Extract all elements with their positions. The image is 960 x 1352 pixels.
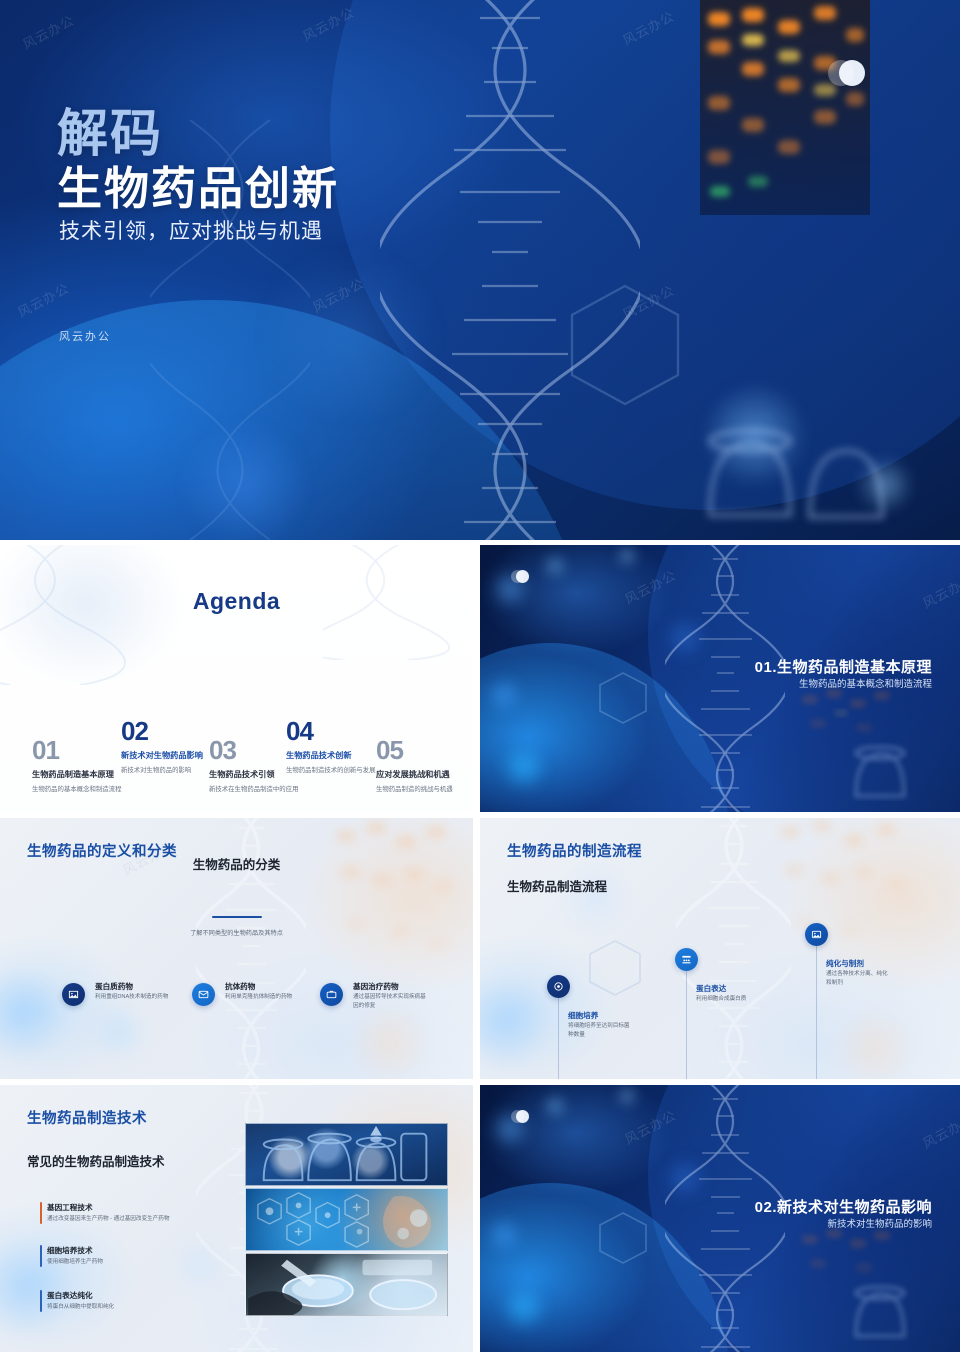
slide-section-01[interactable]: 风云办公 风云办公 01.生物药品制造基本原理 生物药品的基本概念和制造流程: [480, 545, 960, 812]
classification-item-head: 蛋白质药物: [95, 981, 133, 992]
slide-process[interactable]: 生物药品的制造流程 生物药品制造流程 细胞培养 将细胞培养至达到目标菌种数量 蛋…: [480, 818, 960, 1085]
slide-section-02[interactable]: 风云办公 风云办公 02.新技术对生物药品影响 新技术对生物药品的影响: [480, 1085, 960, 1352]
hexagon-decor: [595, 1210, 651, 1266]
process-stem: [558, 998, 559, 1085]
technology-accent-bar: [40, 1290, 42, 1312]
technology-accent-bar: [40, 1245, 42, 1267]
process-stem: [816, 946, 817, 1085]
lab-photo-beakers: [245, 1123, 448, 1186]
slide-technology[interactable]: 生物药品制造技术 常见的生物药品制造技术 基因工程技术 通过改变基因来生产药物 …: [0, 1085, 473, 1352]
glassware-decor: [842, 1270, 942, 1348]
agenda-item-number: 04: [286, 718, 375, 744]
grid-gutter-horizontal: [0, 540, 960, 545]
agenda-item-01[interactable]: 01 生物药品制造基本原理 生物药品的基本概念和制造流程: [32, 737, 121, 793]
agenda-item-desc: 新技术对生物药品的影响: [121, 765, 203, 774]
briefcase-icon: [320, 983, 343, 1006]
technology-title: 生物药品制造技术: [27, 1107, 147, 1128]
agenda-item-desc: 新技术在生物药品制造中的应用: [209, 784, 298, 793]
target-icon: [547, 975, 570, 998]
hexagon-decor: [560, 280, 690, 410]
lab-photo-medtech: [245, 1188, 448, 1251]
process-stem: [686, 970, 687, 1085]
agenda-item-number: 05: [376, 737, 453, 763]
gel-blot-decor: [328, 818, 473, 1008]
grid-gutter-horizontal: [0, 812, 960, 818]
process-step-head: 纯化与制剂: [826, 958, 864, 969]
slide-agenda[interactable]: Agenda 01 生物药品制造基本原理 生物药品的基本概念和制造流程 02 新…: [0, 545, 473, 812]
process-step-head: 细胞培养: [568, 1010, 598, 1021]
slide-deck-preview: 风云办公 风云办公 风云办公 风云办公 风云办公 风云办公 解码 生物药品创新 …: [0, 0, 960, 1352]
agenda-title: Agenda: [0, 588, 473, 615]
image-icon: [62, 983, 85, 1006]
agenda-item-head: 应对发展挑战和机遇: [376, 768, 453, 780]
glassware-decor: [842, 730, 942, 808]
hero-subtitle: 技术引领，应对挑战与机遇: [59, 215, 323, 245]
moon-icon: [839, 60, 865, 86]
process-step-head: 蛋白表达: [696, 983, 726, 994]
classification-caption: 了解不同类型的生物药品及其特点: [0, 928, 473, 937]
image-icon: [805, 923, 828, 946]
slide-classification[interactable]: 风云办公 生物药品的定义和分类 生物药品的分类 了解不同类型的生物药品及其特点 …: [0, 818, 473, 1085]
slide-title-cover[interactable]: 风云办公 风云办公 风云办公 风云办公 风云办公 风云办公 解码 生物药品创新 …: [0, 0, 960, 540]
agenda-item-desc: 生物药品制造的挑战与机遇: [376, 784, 453, 793]
moon-icon: [516, 570, 529, 583]
classification-item-head: 基因治疗药物: [353, 981, 399, 992]
agenda-item-02[interactable]: 02 新技术对生物药品影响 新技术对生物药品的影响: [121, 718, 203, 774]
hexagon-decor: [585, 938, 645, 998]
section1-title: 01.生物药品制造基本原理: [755, 656, 932, 677]
technology-heading: 常见的生物药品制造技术: [27, 1151, 165, 1170]
classification-divider: [212, 916, 262, 918]
hero-title-line2: 生物药品创新: [57, 152, 339, 217]
technology-item-head: 蛋白表达纯化: [47, 1290, 93, 1301]
process-title: 生物药品的制造流程: [507, 840, 642, 861]
grid-gutter-vertical: [473, 540, 480, 1352]
agenda-item-number: 02: [121, 718, 203, 744]
section2-subtitle: 新技术对生物药品的影响: [827, 1216, 932, 1230]
process-heading: 生物药品制造流程: [507, 876, 607, 895]
classification-heading: 生物药品的分类: [0, 854, 473, 873]
technology-item-desc: 通过改变基因来生产药物 - 通过基因改变生产药物: [47, 1215, 217, 1224]
hexagon-decor: [595, 670, 651, 726]
classification-item-desc: 通过基因转导技术实现疾病基因的修复: [353, 993, 429, 1010]
classification-item-desc: 利用重组DNA技术制造的药物: [95, 993, 169, 1002]
classification-item-head: 抗体药物: [225, 981, 255, 992]
technology-item-head: 细胞培养技术: [47, 1245, 93, 1256]
technology-item-head: 基因工程技术: [47, 1202, 93, 1213]
process-step-desc: 将细胞培养至达到目标菌种数量: [568, 1022, 634, 1039]
lab-photo-petridish: [245, 1253, 448, 1316]
agenda-item-head: 新技术对生物药品影响: [121, 749, 203, 761]
glassware-decor: [690, 405, 910, 540]
process-step-desc: 利用细胞合成蛋白质: [696, 995, 762, 1004]
agenda-item-desc: 生物药品的基本概念和制造流程: [32, 784, 121, 793]
agenda-item-desc: 生物药品制造技术的创新与发展: [286, 765, 375, 774]
section1-subtitle: 生物药品的基本概念和制造流程: [799, 676, 932, 690]
process-step-desc: 通过各种技术分离、纯化和制剂: [826, 970, 892, 987]
technology-accent-bar: [40, 1202, 42, 1224]
grid-gutter-horizontal: [0, 1079, 960, 1085]
agenda-item-04[interactable]: 04 生物药品技术创新 生物药品制造技术的创新与发展: [286, 718, 375, 774]
gel-blot-decor: [700, 0, 870, 230]
agenda-item-05[interactable]: 05 应对发展挑战和机遇 生物药品制造的挑战与机遇: [376, 737, 453, 793]
agenda-item-head: 生物药品技术创新: [286, 749, 375, 761]
mail-icon: [192, 983, 215, 1006]
hero-brand-label: 风云办公: [59, 328, 111, 344]
classification-item-desc: 利用单克隆抗体制造的药物: [225, 993, 297, 1002]
grid-icon: [675, 948, 698, 971]
technology-item-desc: 使用细胞培养生产药物: [47, 1258, 217, 1267]
agenda-item-number: 01: [32, 737, 121, 763]
technology-item-desc: 将蛋白从细胞中提取和纯化: [47, 1303, 217, 1312]
agenda-item-head: 生物药品制造基本原理: [32, 768, 121, 780]
section2-title: 02.新技术对生物药品影响: [755, 1196, 932, 1217]
moon-icon: [516, 1110, 529, 1123]
